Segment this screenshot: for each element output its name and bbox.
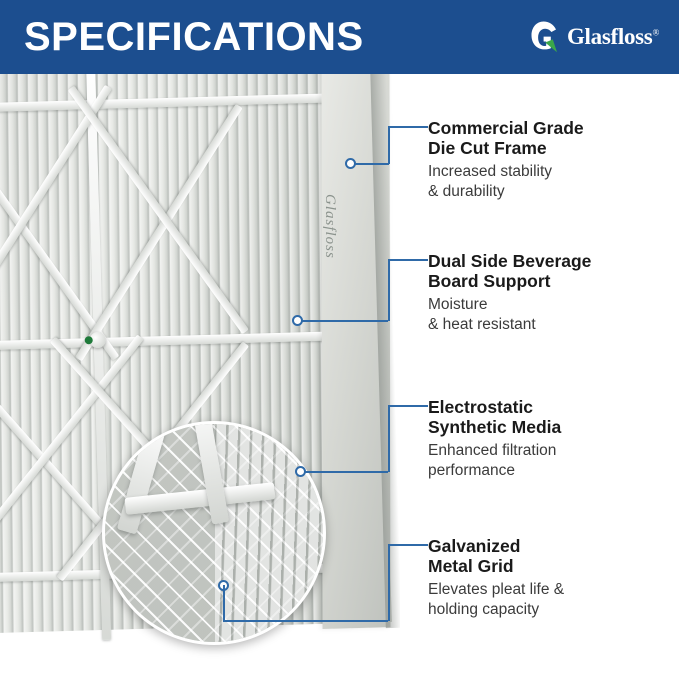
callout-3-desc-line2: performance bbox=[428, 462, 515, 479]
brand-name: Glasfloss® bbox=[567, 24, 659, 50]
callout-1-desc-line1: Increased stability bbox=[428, 163, 552, 180]
callout-leader-1b bbox=[388, 126, 390, 164]
callout-1-desc-line2: & durability bbox=[428, 183, 505, 200]
callout-3-desc-line1: Enhanced filtration bbox=[428, 442, 556, 459]
callout-3: Electrostatic Synthetic Media Enhanced f… bbox=[428, 397, 678, 481]
callout-leader-2b bbox=[388, 259, 390, 321]
callout-3-desc: Enhanced filtration performance bbox=[428, 441, 678, 481]
callout-2-desc: Moisture & heat resistant bbox=[428, 295, 678, 335]
callout-3-title-line2: Synthetic Media bbox=[428, 417, 561, 437]
callout-2-desc-line2: & heat resistant bbox=[428, 316, 536, 333]
frame-side-brand-label: Glasfloss bbox=[321, 194, 338, 259]
callout-3-title-line1: Electrostatic bbox=[428, 397, 533, 417]
callout-leader-2c bbox=[388, 259, 428, 261]
callout-1-desc: Increased stability & durability bbox=[428, 162, 678, 202]
brand-registered-mark: ® bbox=[652, 27, 659, 37]
callout-leader-4d bbox=[388, 544, 428, 546]
callout-4: Galvanized Metal Grid Elevates pleat lif… bbox=[428, 536, 678, 620]
callout-1-title-line2: Die Cut Frame bbox=[428, 138, 547, 158]
callout-2: Dual Side Beverage Board Support Moistur… bbox=[428, 251, 678, 335]
callout-leader-3b bbox=[388, 405, 390, 472]
specifications-header-bar: SPECIFICATIONS Glasfloss® bbox=[0, 0, 679, 74]
callout-column: Commercial Grade Die Cut Frame Increased… bbox=[400, 74, 679, 679]
callout-2-title: Dual Side Beverage Board Support bbox=[428, 251, 678, 292]
callout-leader-1a bbox=[355, 163, 389, 165]
media-pleat-shading bbox=[215, 421, 326, 645]
callout-2-title-line1: Dual Side Beverage bbox=[428, 251, 591, 271]
callout-leader-1c bbox=[388, 126, 428, 128]
callout-leader-4a bbox=[223, 585, 225, 621]
callout-leader-3c bbox=[388, 405, 428, 407]
callout-1: Commercial Grade Die Cut Frame Increased… bbox=[428, 118, 678, 202]
callout-2-desc-line1: Moisture bbox=[428, 296, 487, 313]
callout-4-title-line2: Metal Grid bbox=[428, 556, 514, 576]
callout-2-title-line2: Board Support bbox=[428, 271, 551, 291]
glasfloss-g-logo-icon bbox=[530, 20, 560, 54]
callout-4-title-line1: Galvanized bbox=[428, 536, 520, 556]
callout-leader-2a bbox=[302, 320, 388, 322]
callout-1-title-line1: Commercial Grade bbox=[428, 118, 584, 138]
brand-lockup: Glasfloss® bbox=[530, 20, 665, 54]
callout-4-desc-line2: holding capacity bbox=[428, 601, 539, 618]
callout-3-title: Electrostatic Synthetic Media bbox=[428, 397, 678, 438]
callout-4-desc: Elevates pleat life & holding capacity bbox=[428, 580, 678, 620]
callout-1-title: Commercial Grade Die Cut Frame bbox=[428, 118, 678, 159]
callout-4-title: Galvanized Metal Grid bbox=[428, 536, 678, 577]
callout-leader-3a bbox=[305, 471, 388, 473]
page-title: SPECIFICATIONS bbox=[24, 17, 364, 57]
callout-leader-4b bbox=[223, 620, 388, 622]
callout-leader-4c bbox=[388, 544, 390, 621]
magnified-media-inset bbox=[102, 421, 326, 645]
product-photo: Glasfloss bbox=[0, 74, 400, 679]
brand-name-text: Glasfloss bbox=[567, 24, 652, 49]
callout-4-desc-line1: Elevates pleat life & bbox=[428, 581, 564, 598]
